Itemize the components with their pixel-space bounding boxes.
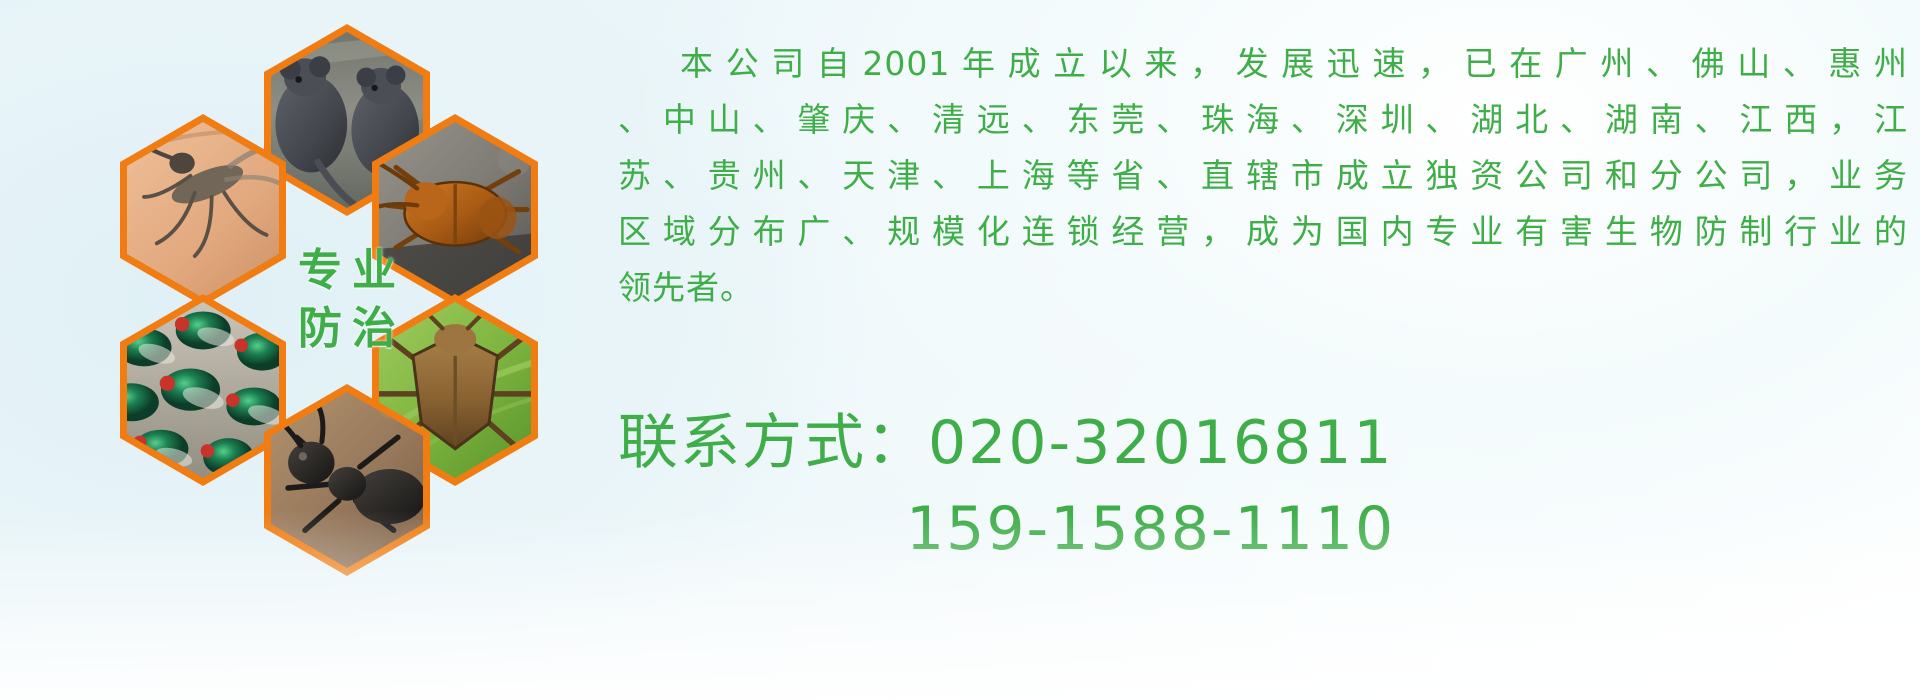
contact-phone-primary[interactable]: 联系方式：020-32016811 xyxy=(618,400,1908,486)
flies-icon xyxy=(127,302,279,478)
contact-phone-secondary[interactable]: 159-1588-1110 xyxy=(618,486,1908,572)
flies-photo xyxy=(127,302,279,478)
hex-cell-mosquito xyxy=(120,114,286,306)
description-line-4: 区域分布广、规模化连锁经营，成为国内专业有害生物防制行业的 xyxy=(618,204,1908,260)
description-line-1: 本公司自2001年成立以来，发展迅速，已在广州、佛山、惠州 xyxy=(618,36,1908,92)
mosquito-icon xyxy=(127,122,279,298)
honeycomb-collage: 专业 防治 xyxy=(80,10,600,570)
promo-banner: 专业 防治 本公司自2001年成立以来，发展迅速，已在广州、佛山、惠州 、中山、… xyxy=(0,0,1920,700)
slogan-line-1: 专业 xyxy=(288,248,406,294)
ant-icon xyxy=(271,392,423,568)
slogan-hexagon: 专业 防治 xyxy=(264,204,430,396)
description-line-3: 苏、贵州、天津、上海等省、直辖市成立独资公司和分公司，业务 xyxy=(618,148,1908,204)
hex-cell-flies xyxy=(120,294,286,486)
slogan-line-2: 防治 xyxy=(288,306,406,352)
company-description: 本公司自2001年成立以来，发展迅速，已在广州、佛山、惠州 、中山、肇庆、清远、… xyxy=(618,36,1908,316)
mosquito-photo xyxy=(127,122,279,298)
contact-block: 联系方式：020-32016811 159-1588-1110 xyxy=(618,400,1908,572)
description-line-2: 、中山、肇庆、清远、东莞、珠海、深圳、湖北、湖南、江西，江 xyxy=(618,92,1908,148)
ant-photo xyxy=(271,392,423,568)
description-line-5: 领先者。 xyxy=(618,260,1908,316)
